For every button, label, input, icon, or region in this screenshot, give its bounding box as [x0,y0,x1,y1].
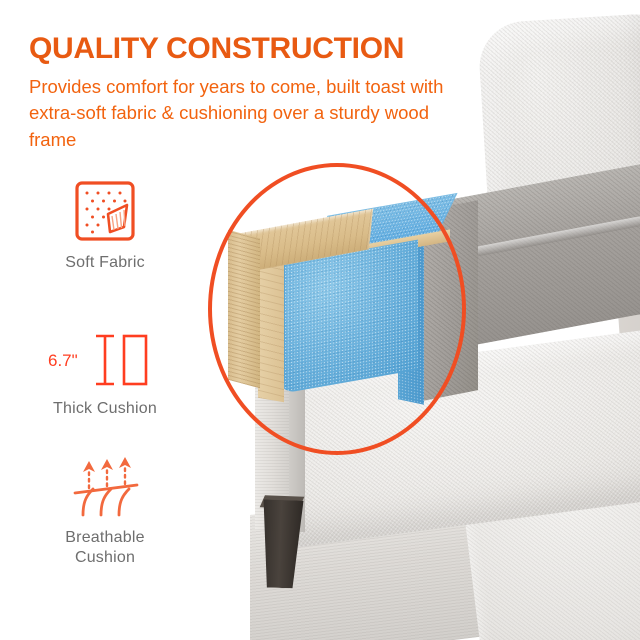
feature-label-line1: Breathable [0,528,210,548]
cutaway-highlight-circle [208,163,466,455]
fabric-swatch-icon [0,178,210,244]
feature-label: Thick Cushion [0,399,210,419]
breathable-airflow-icon [0,455,210,519]
feature-label: Soft Fabric [0,253,210,273]
product-infographic: QUALITY CONSTRUCTION Provides comfort fo… [0,0,640,640]
feature-soft-fabric: Soft Fabric [0,178,210,273]
feature-label: Breathable Cushion [0,528,210,569]
cushion-thickness-icon: 6.7" [0,330,210,390]
page-subtitle: Provides comfort for years to come, buil… [29,74,479,153]
page-title: QUALITY CONSTRUCTION [29,33,404,65]
dimension-value: 6.7" [48,351,78,370]
feature-label-line2: Cushion [0,548,210,568]
feature-breathable-cushion: Breathable Cushion [0,455,210,569]
feature-thick-cushion: 6.7" Thick Cushion [0,330,210,419]
